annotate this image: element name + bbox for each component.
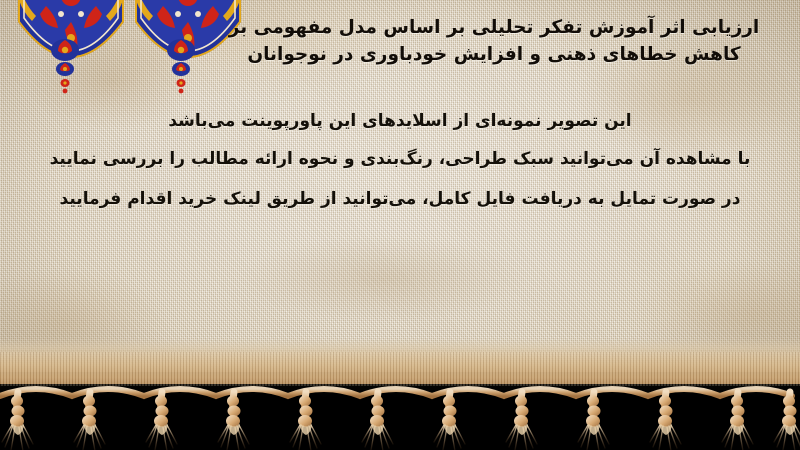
carpet-fringe-zone xyxy=(0,338,800,450)
body-line-sample-notice: این تصویر نمونه‌ای از اسلایدهای این پاور… xyxy=(18,110,782,133)
body-line-purchase-notice: در صورت تمایل به دریافت فایل کامل، می‌تو… xyxy=(18,188,782,211)
slide-body: این تصویر نمونه‌ای از اسلایدهای این پاور… xyxy=(18,104,782,211)
carpet-tassel-row xyxy=(0,338,800,450)
slide-canvas: ارزیابی اثر آموزش تفکر تحلیلی بر اساس مد… xyxy=(0,0,800,450)
slide-title-line-1: ارزیابی اثر آموزش تفکر تحلیلی بر اساس مد… xyxy=(214,14,774,41)
body-line-review-notice: با مشاهده آن می‌توانید سبک طراحی، رنگ‌بن… xyxy=(18,148,782,171)
slide-title: ارزیابی اثر آموزش تفکر تحلیلی بر اساس مد… xyxy=(214,14,774,68)
slide-title-line-2: کاهش خطاهای ذهنی و افزایش خودباوری در نو… xyxy=(214,41,774,68)
